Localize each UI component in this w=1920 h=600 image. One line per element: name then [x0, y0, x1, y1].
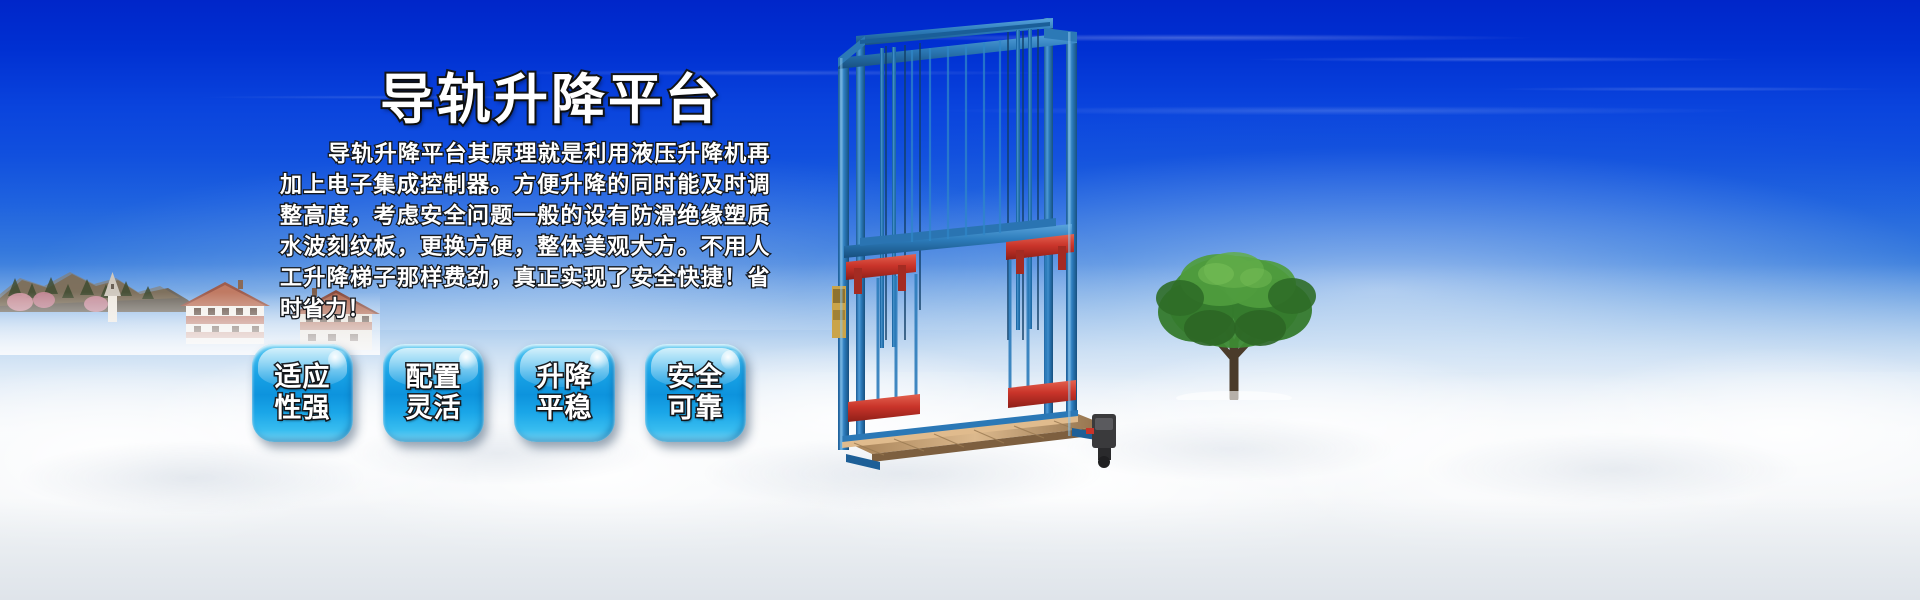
- feature-badge-safety[interactable]: 安全 可靠: [645, 344, 746, 442]
- guide-rail-lift-machine-image: [820, 10, 1140, 480]
- feature-badge-label: 安全 可靠: [668, 362, 724, 424]
- feature-badge-label: 适应 性强: [275, 362, 331, 424]
- feature-badge-smooth-lift[interactable]: 升降 平稳: [514, 344, 615, 442]
- feature-badge-list: 适应 性强 配置 灵活 升降 平稳 安全 可靠: [252, 344, 746, 442]
- feature-badge-label: 升降 平稳: [537, 362, 593, 424]
- feature-badge-label: 配置 灵活: [406, 362, 462, 424]
- feature-badge-adaptability[interactable]: 适应 性强: [252, 344, 353, 442]
- feature-badge-configuration[interactable]: 配置 灵活: [383, 344, 484, 442]
- cloud-bottom-haze: [0, 498, 1920, 600]
- banner-description: 导轨升降平台其原理就是利用液压升降机再加上电子集成控制器。方便升降的同时能及时调…: [280, 138, 770, 324]
- tree-image: [1110, 240, 1360, 400]
- banner-title: 导轨升降平台: [380, 55, 722, 134]
- promo-banner: 导轨升降平台 导轨升降平台其原理就是利用液压升降机再加上电子集成控制器。方便升降…: [0, 0, 1920, 600]
